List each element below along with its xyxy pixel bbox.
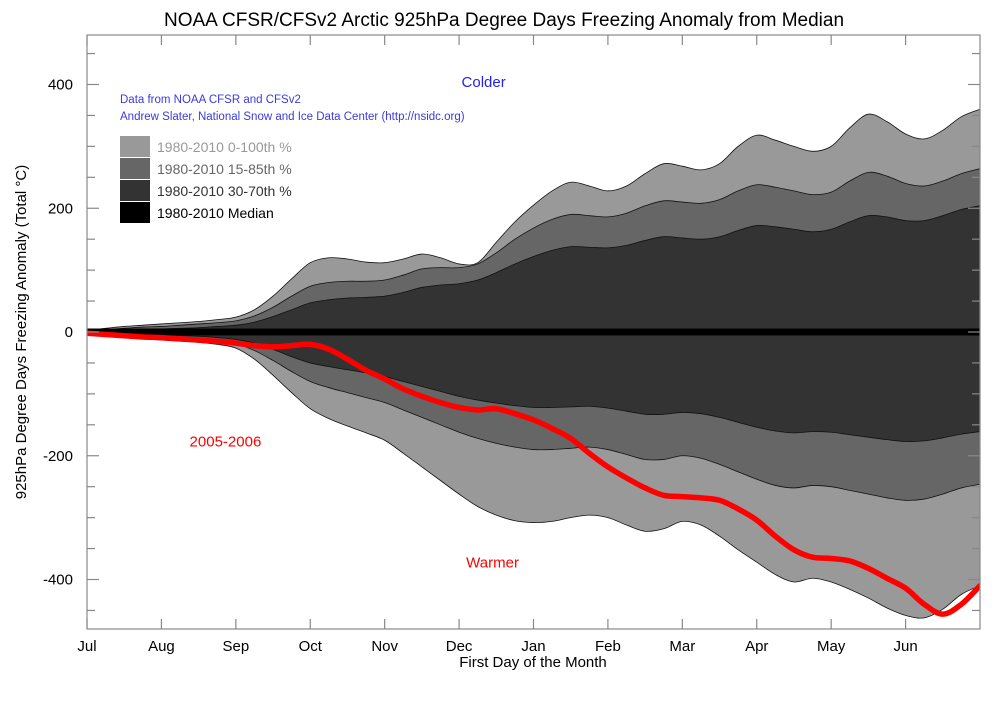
x-tick-label-sep: Sep	[222, 638, 249, 655]
annotation-warmer: Warmer	[466, 555, 519, 572]
credit-line-1: Data from NOAA CFSR and CFSv2	[120, 94, 301, 106]
y-axis-label: 925hPa Degree Days Freezing Anomaly (Tot…	[13, 165, 30, 500]
legend-label: 1980-2010 0-100th %	[157, 139, 292, 155]
legend-label: 1980-2010 15-85th %	[157, 161, 292, 177]
legend-swatch	[120, 202, 150, 223]
legend-label: 1980-2010 Median	[157, 205, 274, 221]
y-tick-label: -400	[43, 572, 73, 589]
chart-page: NOAA CFSR/CFSv2 Arctic 925hPa Degree Day…	[0, 0, 1008, 720]
y-tick-label: 400	[48, 77, 73, 94]
y-tick-label: -200	[43, 448, 73, 465]
legend-swatch	[120, 180, 150, 201]
legend-label: 1980-2010 30-70th %	[157, 183, 292, 199]
x-tick-label-jul: Jul	[77, 638, 96, 655]
annotation-2005-2006: 2005-2006	[190, 433, 262, 450]
x-tick-label-aug: Aug	[148, 638, 175, 655]
x-tick-label-oct: Oct	[299, 638, 323, 655]
x-tick-label-may: May	[817, 638, 846, 655]
x-tick-label-dec: Dec	[446, 638, 473, 655]
x-tick-label-jan: Jan	[521, 638, 545, 655]
x-tick-label-mar: Mar	[669, 638, 695, 655]
x-tick-label-jun: Jun	[893, 638, 917, 655]
y-tick-label: 0	[65, 324, 73, 341]
annotation-colder: Colder	[462, 74, 506, 91]
y-tick-label: 200	[48, 200, 73, 217]
x-tick-label-apr: Apr	[745, 638, 768, 655]
credit-line-2: Andrew Slater, National Snow and Ice Dat…	[120, 111, 465, 123]
legend-swatch	[120, 136, 150, 157]
chart-title: NOAA CFSR/CFSv2 Arctic 925hPa Degree Day…	[164, 10, 844, 31]
degree-days-anomaly-chart: NOAA CFSR/CFSv2 Arctic 925hPa Degree Day…	[0, 0, 1008, 720]
x-tick-label-nov: Nov	[371, 638, 398, 655]
legend-swatch	[120, 158, 150, 179]
x-axis-label: First Day of the Month	[459, 654, 607, 671]
x-tick-label-feb: Feb	[595, 638, 621, 655]
